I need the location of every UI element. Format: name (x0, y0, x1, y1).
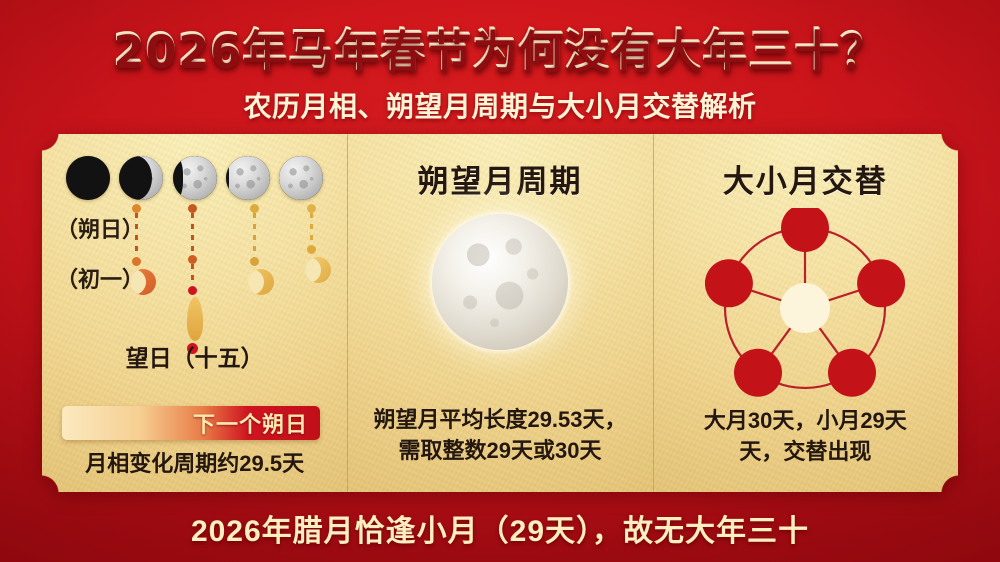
crescent-ornament-1 (130, 269, 156, 295)
full-moon-illustration-icon (432, 214, 568, 350)
month-alternation-star-diagram-icon (705, 208, 905, 408)
right-panel-heading: 大小月交替 (653, 134, 958, 201)
page-subtitle: 农历月相、朔望月周期与大小月交替解析 (0, 85, 1000, 125)
new-moon-icon (66, 156, 110, 200)
moon-phase-row (42, 156, 347, 200)
waxing-crescent-moon-icon (119, 156, 163, 200)
leaf-ornament (187, 297, 203, 341)
right-panel-note: 大月30天，小月29天 天，交替出现 (653, 406, 958, 468)
middle-panel-heading: 朔望月周期 (347, 134, 652, 201)
panel-long-short-months: 大小月交替 大月30天，小月29天 天，交替出现 (653, 134, 958, 492)
panel-group: （朔日） （初一） (42, 134, 958, 492)
middle-note-line-2: 需取整数29天或30天 (347, 436, 652, 466)
label-full-moon-day: 望日（十五） (42, 339, 347, 373)
banner-text: 2026年腊月恰逢小月（29天），故无大年三十 (191, 506, 809, 550)
bottom-banner: 2026年腊月恰逢小月（29天），故无大年三十 (0, 494, 1000, 562)
panel-synodic-month: 朔望月周期 朔望月平均长度29.53天， 需取整数29天或30天 (347, 134, 652, 492)
middle-note-line-1: 朔望月平均长度29.53天， (347, 405, 652, 435)
next-new-moon-label: 下一个朔日 (193, 407, 320, 439)
right-note-line-1: 大月30天，小月29天 (653, 406, 958, 437)
hanging-strand-1 (130, 204, 142, 295)
header: 2026年马年春节为何没有大年三十？ 农历月相、朔望月周期与大小月交替解析 (0, 0, 1000, 122)
crescent-ornament-4 (305, 257, 331, 283)
left-panel-note: 月相变化周期约29.5天 (42, 446, 347, 478)
crescent-ornament-3 (248, 269, 274, 295)
hanging-strand-4 (305, 204, 317, 283)
lunar-cycle-progress-bar: 下一个朔日 (62, 406, 320, 440)
waxing-gibbous-moon-icon (226, 156, 270, 200)
first-quarter-moon-icon (173, 156, 217, 200)
hanging-strand-2 (186, 204, 198, 354)
panel-moon-phases: （朔日） （初一） (42, 134, 347, 492)
full-moon-icon (279, 156, 323, 200)
hanging-strand-3 (248, 204, 260, 295)
page-title: 2026年马年春节为何没有大年三十？ (0, 0, 1000, 79)
middle-panel-note: 朔望月平均长度29.53天， 需取整数29天或30天 (347, 405, 652, 466)
right-note-line-2: 天，交替出现 (653, 437, 958, 468)
